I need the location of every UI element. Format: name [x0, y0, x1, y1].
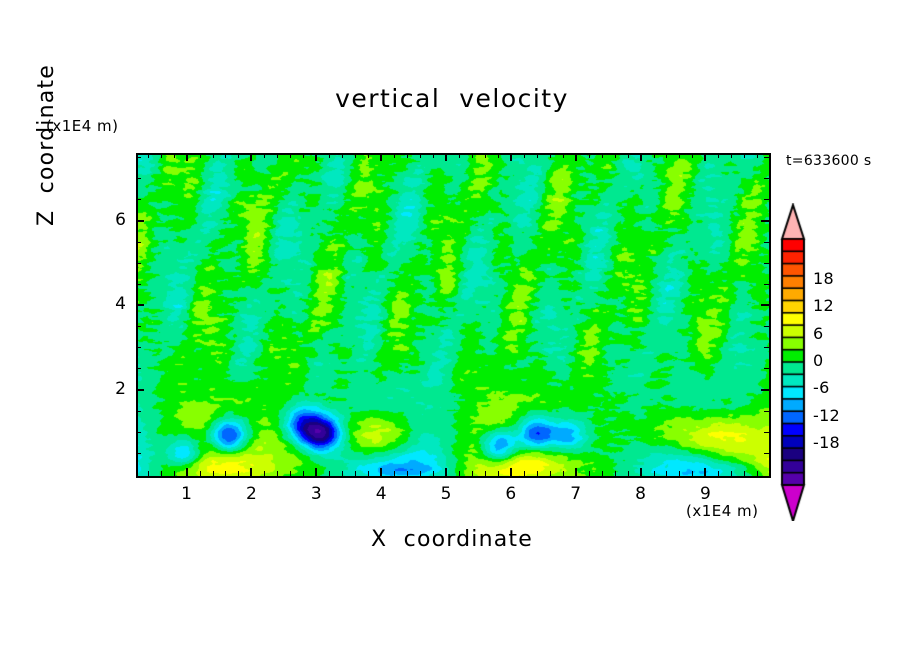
y-tick-minor-left	[136, 326, 141, 327]
x-tick-minor-bottom	[731, 471, 732, 476]
x-tick-minor-bottom	[459, 471, 460, 476]
x-tick-label: 5	[426, 484, 466, 504]
y-tick-minor-right	[764, 284, 769, 285]
y-tick-minor-right	[764, 411, 769, 412]
x-tick-major-top	[575, 153, 577, 161]
x-tick-minor-top	[744, 153, 745, 158]
x-tick-minor-top	[174, 153, 175, 158]
y-tick-minor-right	[764, 263, 769, 264]
x-tick-minor-top	[679, 153, 680, 158]
colorbar-swatches	[780, 203, 900, 521]
y-tick-minor-left	[136, 284, 141, 285]
colorbar-tick-label: 18	[813, 269, 834, 288]
x-tick-major-bottom	[575, 468, 577, 476]
x-tick-minor-top	[498, 153, 499, 158]
x-tick-minor-top	[628, 153, 629, 158]
x-tick-minor-bottom	[757, 471, 758, 476]
x-tick-minor-top	[407, 153, 408, 158]
x-tick-major-bottom	[250, 468, 252, 476]
x-tick-minor-bottom	[602, 471, 603, 476]
x-tick-label: 1	[167, 484, 207, 504]
x-tick-minor-top	[666, 153, 667, 158]
x-tick-minor-bottom	[200, 471, 201, 476]
y-tick-major-left	[136, 304, 144, 306]
x-tick-major-bottom	[510, 468, 512, 476]
x-tick-minor-top	[550, 153, 551, 158]
x-tick-minor-top	[731, 153, 732, 158]
y-axis-title: Z coordinate	[34, 64, 59, 226]
x-tick-minor-bottom	[498, 471, 499, 476]
x-tick-minor-top	[290, 153, 291, 158]
x-tick-minor-top	[277, 153, 278, 158]
y-tick-label: 6	[86, 210, 126, 230]
y-tick-minor-right	[764, 326, 769, 327]
y-tick-minor-right	[764, 432, 769, 433]
x-tick-minor-bottom	[148, 471, 149, 476]
y-tick-minor-left	[136, 263, 141, 264]
contour-plot-panel	[136, 153, 771, 478]
vertical-velocity-field	[138, 155, 769, 476]
x-tick-minor-bottom	[666, 471, 667, 476]
x-tick-minor-bottom	[213, 471, 214, 476]
x-tick-label: 8	[621, 484, 661, 504]
x-tick-minor-top	[589, 153, 590, 158]
y-tick-minor-left	[136, 242, 141, 243]
x-tick-major-bottom	[640, 468, 642, 476]
y-tick-major-right	[761, 304, 769, 306]
x-tick-minor-bottom	[303, 471, 304, 476]
x-tick-minor-bottom	[174, 471, 175, 476]
x-tick-label: 9	[685, 484, 725, 504]
y-tick-minor-right	[764, 453, 769, 454]
figure-root: vertical velocity (x1E4 m) t=633600 s 12…	[0, 0, 904, 654]
x-tick-minor-bottom	[394, 471, 395, 476]
x-tick-major-top	[315, 153, 317, 161]
x-tick-major-top	[380, 153, 382, 161]
x-tick-minor-bottom	[718, 471, 719, 476]
x-tick-minor-top	[537, 153, 538, 158]
y-tick-minor-left	[136, 157, 141, 158]
x-tick-minor-bottom	[524, 471, 525, 476]
x-axis-title: X coordinate	[0, 527, 904, 552]
x-tick-minor-top	[563, 153, 564, 158]
x-tick-minor-bottom	[615, 471, 616, 476]
x-tick-minor-top	[148, 153, 149, 158]
x-tick-minor-top	[200, 153, 201, 158]
y-tick-label: 2	[86, 379, 126, 399]
x-tick-minor-top	[602, 153, 603, 158]
x-tick-minor-top	[394, 153, 395, 158]
x-tick-minor-bottom	[420, 471, 421, 476]
x-tick-minor-top	[615, 153, 616, 158]
x-tick-minor-bottom	[537, 471, 538, 476]
y-tick-minor-left	[136, 178, 141, 179]
colorbar-tick-label: 6	[813, 324, 823, 343]
x-tick-minor-bottom	[472, 471, 473, 476]
x-tick-minor-bottom	[407, 471, 408, 476]
x-tick-minor-bottom	[589, 471, 590, 476]
x-tick-minor-bottom	[692, 471, 693, 476]
x-tick-minor-top	[524, 153, 525, 158]
x-tick-minor-top	[485, 153, 486, 158]
x-tick-minor-top	[459, 153, 460, 158]
y-tick-major-left	[136, 389, 144, 391]
colorbar-tick-label: 0	[813, 351, 823, 370]
x-tick-minor-top	[654, 153, 655, 158]
x-tick-label: 2	[231, 484, 271, 504]
y-tick-major-right	[761, 220, 769, 222]
x-tick-minor-bottom	[355, 471, 356, 476]
y-tick-minor-left	[136, 432, 141, 433]
x-tick-minor-bottom	[679, 471, 680, 476]
x-tick-minor-bottom	[277, 471, 278, 476]
x-tick-minor-bottom	[264, 471, 265, 476]
colorbar: 181260-6-12-18	[780, 203, 900, 521]
x-tick-label: 3	[296, 484, 336, 504]
x-tick-minor-top	[355, 153, 356, 158]
x-tick-minor-bottom	[654, 471, 655, 476]
x-tick-minor-bottom	[368, 471, 369, 476]
x-tick-minor-top	[213, 153, 214, 158]
x-tick-major-top	[445, 153, 447, 161]
y-tick-minor-right	[764, 157, 769, 158]
x-tick-minor-top	[718, 153, 719, 158]
y-tick-minor-left	[136, 453, 141, 454]
colorbar-tick-label: -12	[813, 406, 840, 425]
x-tick-major-bottom	[315, 468, 317, 476]
y-tick-minor-left	[136, 411, 141, 412]
x-tick-minor-top	[303, 153, 304, 158]
x-tick-major-bottom	[186, 468, 188, 476]
x-tick-minor-bottom	[550, 471, 551, 476]
x-tick-minor-top	[368, 153, 369, 158]
x-tick-minor-bottom	[329, 471, 330, 476]
x-tick-minor-bottom	[238, 471, 239, 476]
x-tick-minor-bottom	[290, 471, 291, 476]
y-tick-minor-right	[764, 347, 769, 348]
colorbar-tick-label: -6	[813, 378, 830, 397]
x-tick-major-bottom	[380, 468, 382, 476]
x-tick-major-top	[510, 153, 512, 161]
x-tick-minor-top	[342, 153, 343, 158]
x-tick-minor-top	[692, 153, 693, 158]
timestamp-label: t=633600 s	[786, 153, 871, 169]
x-tick-major-bottom	[704, 468, 706, 476]
y-tick-minor-right	[764, 199, 769, 200]
x-tick-major-top	[186, 153, 188, 161]
y-tick-minor-right	[764, 178, 769, 179]
x-axis-unit-label: (x1E4 m)	[686, 502, 759, 520]
x-tick-label: 7	[556, 484, 596, 504]
y-tick-minor-left	[136, 347, 141, 348]
y-tick-minor-right	[764, 242, 769, 243]
y-tick-minor-left	[136, 199, 141, 200]
x-tick-major-bottom	[445, 468, 447, 476]
x-tick-minor-top	[161, 153, 162, 158]
y-tick-major-right	[761, 389, 769, 391]
x-tick-minor-bottom	[161, 471, 162, 476]
x-tick-minor-bottom	[744, 471, 745, 476]
x-tick-label: 4	[361, 484, 401, 504]
x-tick-label: 6	[491, 484, 531, 504]
x-tick-minor-top	[433, 153, 434, 158]
y-tick-minor-right	[764, 368, 769, 369]
x-tick-minor-bottom	[225, 471, 226, 476]
x-tick-minor-top	[238, 153, 239, 158]
colorbar-tick-label: -18	[813, 433, 840, 452]
x-tick-major-top	[704, 153, 706, 161]
x-tick-major-top	[250, 153, 252, 161]
x-tick-minor-top	[225, 153, 226, 158]
x-tick-minor-bottom	[628, 471, 629, 476]
x-tick-minor-top	[472, 153, 473, 158]
x-tick-major-top	[640, 153, 642, 161]
y-tick-minor-left	[136, 368, 141, 369]
colorbar-tick-label: 12	[813, 296, 834, 315]
y-tick-major-left	[136, 220, 144, 222]
x-tick-minor-top	[420, 153, 421, 158]
x-tick-minor-top	[757, 153, 758, 158]
page-title: vertical velocity	[0, 84, 904, 113]
x-tick-minor-top	[329, 153, 330, 158]
x-tick-minor-bottom	[485, 471, 486, 476]
x-tick-minor-top	[264, 153, 265, 158]
x-tick-minor-bottom	[433, 471, 434, 476]
x-tick-minor-bottom	[563, 471, 564, 476]
x-tick-minor-bottom	[342, 471, 343, 476]
y-tick-label: 4	[86, 294, 126, 314]
